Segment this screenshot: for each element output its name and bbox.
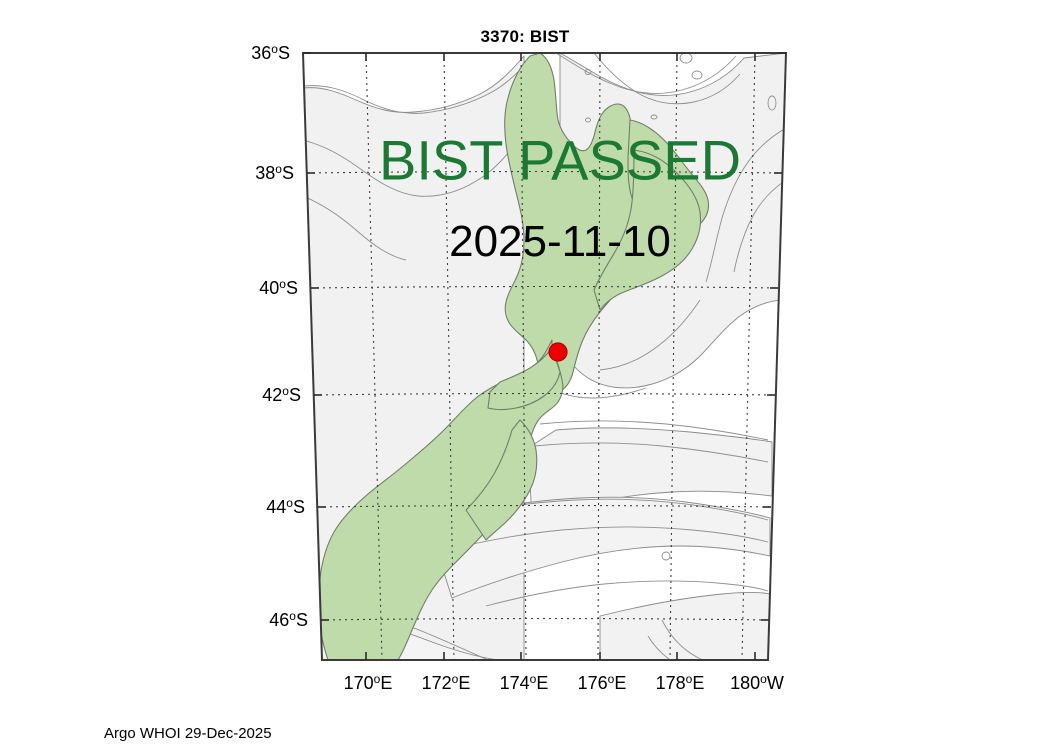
xtick-label-170e: 170oE — [344, 672, 393, 694]
footer-credit: Argo WHOI 29-Dec-2025 — [104, 725, 272, 742]
float-position-marker[interactable] — [549, 343, 567, 361]
xtick-label-172e: 172oE — [422, 672, 471, 694]
xtick-label-178e: 178oE — [656, 672, 705, 694]
map-figure: 3370: BIST — [0, 0, 1050, 750]
ytick-label-40s: 40oS — [259, 277, 298, 299]
map-canvas — [0, 0, 1050, 750]
xtick-label-176e: 176oE — [578, 672, 627, 694]
bist-status-text: BIST PASSED — [379, 128, 741, 193]
ytick-label-46s: 46oS — [269, 609, 308, 631]
ytick-label-42s: 42oS — [262, 384, 301, 406]
bist-date-text: 2025-11-10 — [449, 217, 671, 267]
ytick-label-36s: 36oS — [251, 42, 290, 64]
xtick-label-174e: 174oE — [500, 672, 549, 694]
xtick-label-180w: 180oW — [730, 672, 784, 694]
ytick-label-44s: 44oS — [266, 496, 305, 518]
ytick-label-38s: 38oS — [255, 162, 294, 184]
